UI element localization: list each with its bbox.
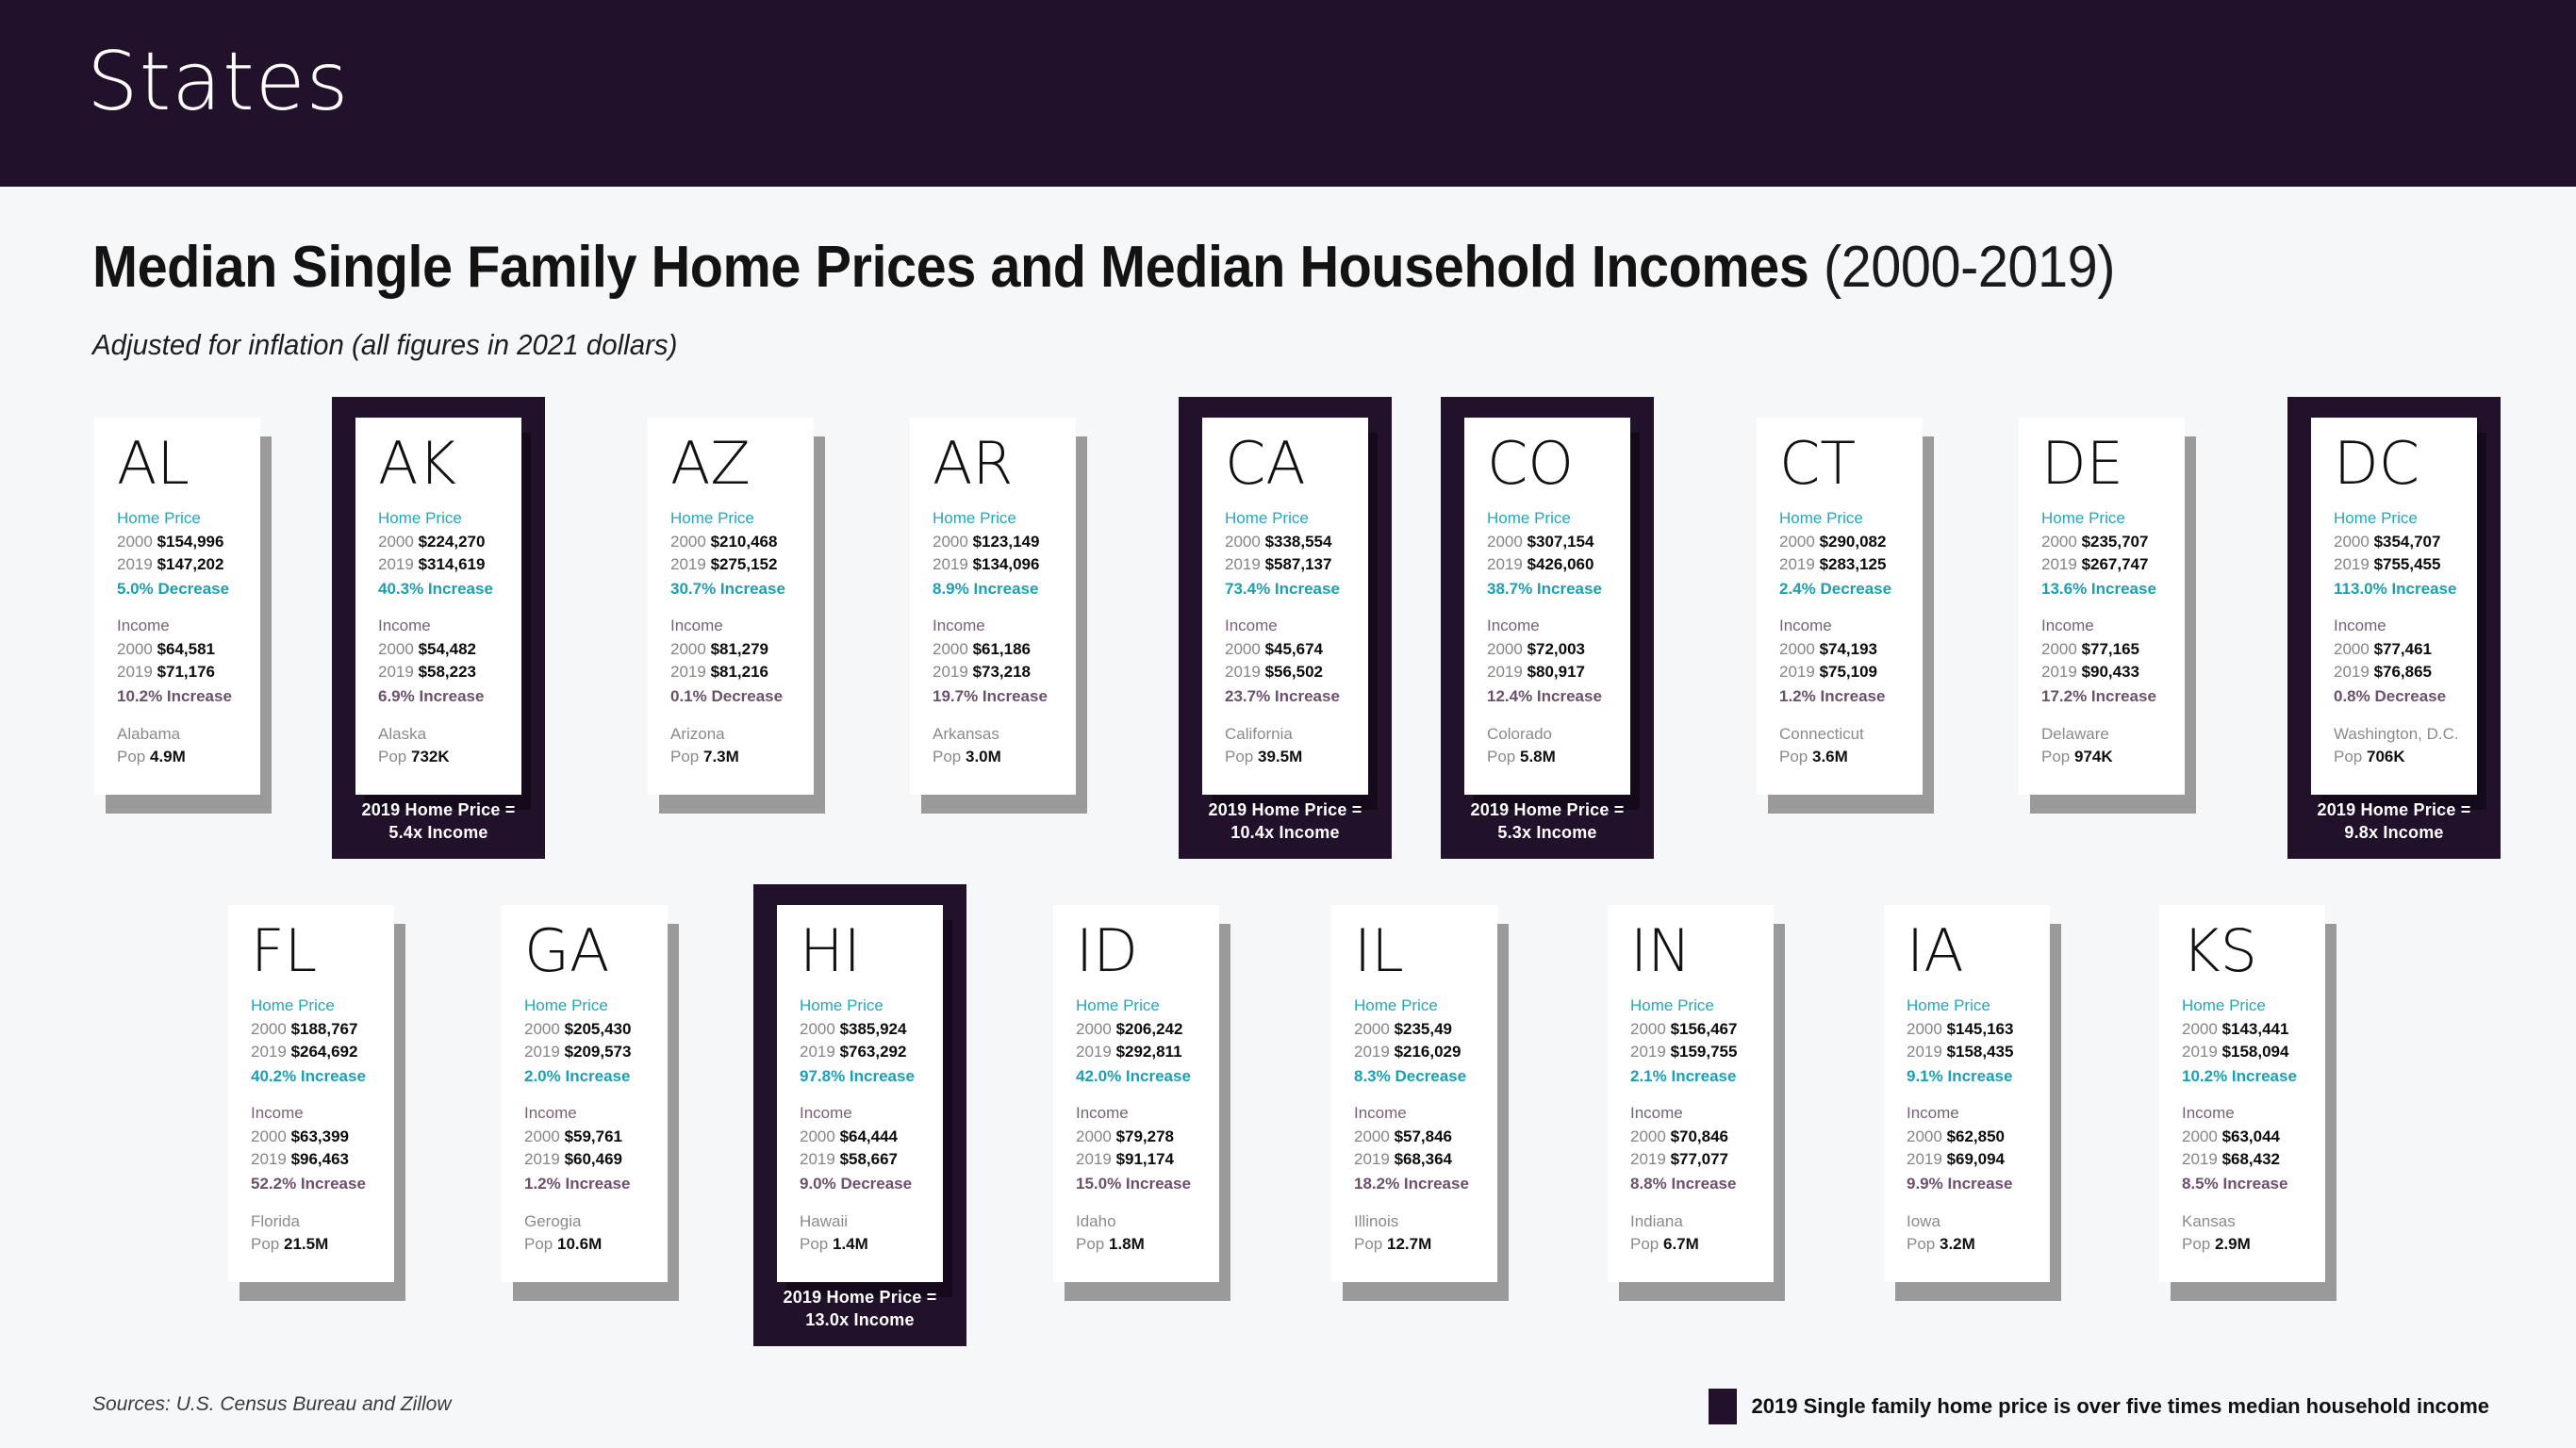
state-population: Pop 1.4M — [800, 1233, 943, 1257]
income-2019: 2019 $76,865 — [2334, 661, 2477, 684]
income-delta: 19.7% Increase — [933, 684, 1076, 709]
state-name: Washington, D.C. — [2334, 723, 2477, 747]
income-2019: 2019 $56,502 — [1225, 661, 1368, 684]
income-delta: 8.5% Increase — [2182, 1172, 2325, 1196]
home-price-2000: 2000 $156,467 — [1630, 1018, 1774, 1042]
income-2000: 2000 $81,279 — [670, 638, 814, 662]
home-price-delta: 30.7% Increase — [670, 577, 814, 601]
income-section: Income2000 $81,2792019 $81,2160.1% Decre… — [670, 614, 814, 708]
income-2000: 2000 $63,044 — [2182, 1126, 2325, 1149]
sources-note: Sources: U.S. Census Bureau and Zillow — [92, 1393, 452, 1416]
state-name: Iowa — [1907, 1210, 2050, 1234]
home-price-section: Home Price2000 $338,5542019 $587,13773.4… — [1225, 506, 1368, 601]
income-2019: 2019 $60,469 — [524, 1148, 668, 1172]
home-price-2019: 2019 $209,573 — [524, 1041, 668, 1064]
income-2019: 2019 $68,364 — [1354, 1148, 1497, 1172]
home-price-2019: 2019 $314,619 — [378, 553, 521, 577]
income-section: Income2000 $79,2782019 $91,17415.0% Incr… — [1076, 1101, 1219, 1195]
state-population: Pop 3.2M — [1907, 1233, 2050, 1257]
home-price-2000: 2000 $338,554 — [1225, 531, 1368, 554]
state-abbr: IL — [1354, 922, 1497, 980]
home-price-label: Home Price — [1487, 506, 1630, 531]
home-price-label: Home Price — [1779, 506, 1923, 531]
income-label: Income — [1630, 1101, 1774, 1126]
income-section: Income2000 $74,1932019 $75,1091.2% Incre… — [1779, 614, 1923, 708]
home-price-delta: 113.0% Increase — [2334, 577, 2477, 601]
income-section: Income2000 $72,0032019 $80,91712.4% Incr… — [1487, 614, 1630, 708]
card-panel: AZHome Price2000 $210,4682019 $275,15230… — [648, 418, 814, 795]
state-population: Pop 39.5M — [1225, 746, 1368, 769]
home-price-delta: 8.9% Increase — [933, 577, 1076, 601]
income-2019: 2019 $71,176 — [117, 661, 260, 684]
home-price-2019: 2019 $275,152 — [670, 553, 814, 577]
state-population: Pop 3.6M — [1779, 746, 1923, 769]
home-price-2019: 2019 $426,060 — [1487, 553, 1630, 577]
state-card-grid: ALHome Price2000 $154,9962019 $147,2025.… — [0, 0, 2576, 1448]
income-delta: 23.7% Increase — [1225, 684, 1368, 709]
state-population: Pop 7.3M — [670, 746, 814, 769]
income-section: Income2000 $77,4612019 $76,8650.8% Decre… — [2334, 614, 2477, 708]
home-price-delta: 38.7% Increase — [1487, 577, 1630, 601]
state-abbr: DE — [2041, 435, 2185, 493]
state-abbr: HI — [800, 922, 943, 980]
income-section: Income2000 $59,7612019 $60,4691.2% Incre… — [524, 1101, 668, 1195]
home-price-label: Home Price — [378, 506, 521, 531]
income-delta: 0.1% Decrease — [670, 684, 814, 709]
home-price-label: Home Price — [1076, 994, 1219, 1018]
home-price-label: Home Price — [2041, 506, 2185, 531]
home-price-delta: 8.3% Decrease — [1354, 1064, 1497, 1089]
state-name: Idaho — [1076, 1210, 1219, 1234]
state-abbr: IN — [1630, 922, 1774, 980]
home-price-2000: 2000 $188,767 — [251, 1018, 394, 1042]
income-2000: 2000 $64,581 — [117, 638, 260, 662]
home-price-label: Home Price — [2182, 994, 2325, 1018]
card-panel: DEHome Price2000 $235,7072019 $267,74713… — [2019, 418, 2185, 795]
income-delta: 9.0% Decrease — [800, 1172, 943, 1196]
income-2000: 2000 $63,399 — [251, 1126, 394, 1149]
home-price-section: Home Price2000 $224,2702019 $314,61940.3… — [378, 506, 521, 601]
card-panel: ILHome Price2000 $235,492019 $216,0298.3… — [1331, 905, 1497, 1282]
home-price-delta: 5.0% Decrease — [117, 577, 260, 601]
income-section: Income2000 $64,4442019 $58,6679.0% Decre… — [800, 1101, 943, 1195]
home-price-2019: 2019 $159,755 — [1630, 1041, 1774, 1064]
card-panel: INHome Price2000 $156,4672019 $159,7552.… — [1608, 905, 1774, 1282]
home-price-label: Home Price — [670, 506, 814, 531]
income-2019: 2019 $69,094 — [1907, 1148, 2050, 1172]
state-name: Indiana — [1630, 1210, 1774, 1234]
home-price-2019: 2019 $134,096 — [933, 553, 1076, 577]
home-price-section: Home Price2000 $156,4672019 $159,7552.1%… — [1630, 994, 1774, 1088]
income-delta: 15.0% Increase — [1076, 1172, 1219, 1196]
income-label: Income — [117, 614, 260, 638]
income-2000: 2000 $74,193 — [1779, 638, 1923, 662]
card-panel: HIHome Price2000 $385,9242019 $763,29297… — [777, 905, 943, 1282]
card-panel: GAHome Price2000 $205,4302019 $209,5732.… — [502, 905, 668, 1282]
state-name: Arkansas — [933, 723, 1076, 747]
home-price-section: Home Price2000 $123,1492019 $134,0968.9%… — [933, 506, 1076, 601]
income-2000: 2000 $45,674 — [1225, 638, 1368, 662]
income-delta: 1.2% Increase — [1779, 684, 1923, 709]
income-2000: 2000 $61,186 — [933, 638, 1076, 662]
state-name: California — [1225, 723, 1368, 747]
income-delta: 9.9% Increase — [1907, 1172, 2050, 1196]
income-2019: 2019 $77,077 — [1630, 1148, 1774, 1172]
state-population: Pop 1.8M — [1076, 1233, 1219, 1257]
income-section: Income2000 $62,8502019 $69,0949.9% Incre… — [1907, 1101, 2050, 1195]
income-label: Income — [1076, 1101, 1219, 1126]
income-label: Income — [251, 1101, 394, 1126]
home-price-2019: 2019 $147,202 — [117, 553, 260, 577]
home-price-2000: 2000 $123,149 — [933, 531, 1076, 554]
state-abbr: IA — [1907, 922, 2050, 980]
home-price-2019: 2019 $158,094 — [2182, 1041, 2325, 1064]
income-section: Income2000 $63,3992019 $96,46352.2% Incr… — [251, 1101, 394, 1195]
state-name: Kansas — [2182, 1210, 2325, 1234]
income-2000: 2000 $77,461 — [2334, 638, 2477, 662]
state-abbr: FL — [251, 922, 394, 980]
card-panel: COHome Price2000 $307,1542019 $426,06038… — [1464, 418, 1630, 795]
home-price-2019: 2019 $264,692 — [251, 1041, 394, 1064]
home-price-2019: 2019 $755,455 — [2334, 553, 2477, 577]
income-delta: 17.2% Increase — [2041, 684, 2185, 709]
income-section: Income2000 $64,5812019 $71,17610.2% Incr… — [117, 614, 260, 708]
home-price-section: Home Price2000 $143,4412019 $158,09410.2… — [2182, 994, 2325, 1088]
home-price-2000: 2000 $235,707 — [2041, 531, 2185, 554]
state-name: Arizona — [670, 723, 814, 747]
income-section: Income2000 $77,1652019 $90,43317.2% Incr… — [2041, 614, 2185, 708]
state-name: Hawaii — [800, 1210, 943, 1234]
home-price-2019: 2019 $158,435 — [1907, 1041, 2050, 1064]
home-price-delta: 73.4% Increase — [1225, 577, 1368, 601]
home-price-label: Home Price — [117, 506, 260, 531]
state-name: Alabama — [117, 723, 260, 747]
home-price-delta: 9.1% Increase — [1907, 1064, 2050, 1089]
price-to-income-ratio: 2019 Home Price =5.3x Income — [1441, 798, 1654, 845]
state-abbr: AL — [117, 435, 260, 493]
home-price-2000: 2000 $206,242 — [1076, 1018, 1219, 1042]
home-price-delta: 10.2% Increase — [2182, 1064, 2325, 1089]
state-abbr: AZ — [670, 435, 814, 493]
home-price-label: Home Price — [1354, 994, 1497, 1018]
income-2000: 2000 $72,003 — [1487, 638, 1630, 662]
home-price-label: Home Price — [933, 506, 1076, 531]
income-delta: 52.2% Increase — [251, 1172, 394, 1196]
state-abbr: CA — [1225, 435, 1368, 493]
card-panel: AKHome Price2000 $224,2702019 $314,61940… — [355, 418, 521, 795]
state-name: Colorado — [1487, 723, 1630, 747]
income-delta: 8.8% Increase — [1630, 1172, 1774, 1196]
state-population: Pop 2.9M — [2182, 1233, 2325, 1257]
income-2019: 2019 $68,432 — [2182, 1148, 2325, 1172]
state-abbr: GA — [524, 922, 668, 980]
home-price-2019: 2019 $267,747 — [2041, 553, 2185, 577]
price-to-income-ratio: 2019 Home Price =10.4x Income — [1179, 798, 1392, 845]
home-price-2000: 2000 $354,707 — [2334, 531, 2477, 554]
card-panel: IDHome Price2000 $206,2422019 $292,81142… — [1053, 905, 1219, 1282]
income-delta: 1.2% Increase — [524, 1172, 668, 1196]
state-population: Pop 706K — [2334, 746, 2477, 769]
state-abbr: ID — [1076, 922, 1219, 980]
state-population: Pop 10.6M — [524, 1233, 668, 1257]
state-abbr: AK — [378, 435, 521, 493]
card-panel: CTHome Price2000 $290,0822019 $283,1252.… — [1757, 418, 1923, 795]
home-price-delta: 2.0% Increase — [524, 1064, 668, 1089]
income-2019: 2019 $96,463 — [251, 1148, 394, 1172]
home-price-section: Home Price2000 $385,9242019 $763,29297.8… — [800, 994, 943, 1088]
home-price-2000: 2000 $385,924 — [800, 1018, 943, 1042]
income-delta: 6.9% Increase — [378, 684, 521, 709]
income-label: Income — [1779, 614, 1923, 638]
state-population: Pop 3.0M — [933, 746, 1076, 769]
home-price-label: Home Price — [1630, 994, 1774, 1018]
price-to-income-ratio: 2019 Home Price =13.0x Income — [753, 1286, 966, 1332]
income-2019: 2019 $73,218 — [933, 661, 1076, 684]
home-price-2019: 2019 $283,125 — [1779, 553, 1923, 577]
home-price-2000: 2000 $143,441 — [2182, 1018, 2325, 1042]
home-price-label: Home Price — [2334, 506, 2477, 531]
income-2000: 2000 $79,278 — [1076, 1126, 1219, 1149]
legend: 2019 Single family home price is over fi… — [1709, 1389, 2489, 1424]
home-price-delta: 40.2% Increase — [251, 1064, 394, 1089]
legend-swatch-highlight — [1709, 1389, 1737, 1424]
income-2000: 2000 $54,482 — [378, 638, 521, 662]
income-2000: 2000 $77,165 — [2041, 638, 2185, 662]
income-2019: 2019 $58,667 — [800, 1148, 943, 1172]
income-label: Income — [800, 1101, 943, 1126]
state-abbr: AR — [933, 435, 1076, 493]
home-price-2000: 2000 $210,468 — [670, 531, 814, 554]
card-panel: CAHome Price2000 $338,5542019 $587,13773… — [1202, 418, 1368, 795]
income-label: Income — [1907, 1101, 2050, 1126]
state-population: Pop 12.7M — [1354, 1233, 1497, 1257]
state-population: Pop 21.5M — [251, 1233, 394, 1257]
state-name: Delaware — [2041, 723, 2185, 747]
income-delta: 10.2% Increase — [117, 684, 260, 709]
income-section: Income2000 $63,0442019 $68,4328.5% Incre… — [2182, 1101, 2325, 1195]
state-population: Pop 5.8M — [1487, 746, 1630, 769]
state-population: Pop 6.7M — [1630, 1233, 1774, 1257]
state-population: Pop 974K — [2041, 746, 2185, 769]
income-delta: 18.2% Increase — [1354, 1172, 1497, 1196]
home-price-delta: 42.0% Increase — [1076, 1064, 1219, 1089]
income-label: Income — [2334, 614, 2477, 638]
income-2000: 2000 $59,761 — [524, 1126, 668, 1149]
income-section: Income2000 $45,6742019 $56,50223.7% Incr… — [1225, 614, 1368, 708]
card-panel: IAHome Price2000 $145,1632019 $158,4359.… — [1884, 905, 2050, 1282]
home-price-section: Home Price2000 $290,0822019 $283,1252.4%… — [1779, 506, 1923, 601]
home-price-2000: 2000 $154,996 — [117, 531, 260, 554]
home-price-2019: 2019 $587,137 — [1225, 553, 1368, 577]
income-delta: 12.4% Increase — [1487, 684, 1630, 709]
state-name: Gerogia — [524, 1210, 668, 1234]
income-2000: 2000 $62,850 — [1907, 1126, 2050, 1149]
home-price-label: Home Price — [524, 994, 668, 1018]
income-section: Income2000 $61,1862019 $73,21819.7% Incr… — [933, 614, 1076, 708]
income-label: Income — [1487, 614, 1630, 638]
income-2019: 2019 $80,917 — [1487, 661, 1630, 684]
home-price-section: Home Price2000 $307,1542019 $426,06038.7… — [1487, 506, 1630, 601]
home-price-2000: 2000 $235,49 — [1354, 1018, 1497, 1042]
home-price-delta: 97.8% Increase — [800, 1064, 943, 1089]
home-price-2000: 2000 $224,270 — [378, 531, 521, 554]
card-panel: ALHome Price2000 $154,9962019 $147,2025.… — [94, 418, 260, 795]
state-name: Illinois — [1354, 1210, 1497, 1234]
legend-label: 2019 Single family home price is over fi… — [1752, 1394, 2489, 1419]
home-price-delta: 2.4% Decrease — [1779, 577, 1923, 601]
home-price-2000: 2000 $145,163 — [1907, 1018, 2050, 1042]
income-section: Income2000 $57,8462019 $68,36418.2% Incr… — [1354, 1101, 1497, 1195]
state-name: Alaska — [378, 723, 521, 747]
income-2019: 2019 $81,216 — [670, 661, 814, 684]
card-panel: FLHome Price2000 $188,7672019 $264,69240… — [228, 905, 394, 1282]
state-population: Pop 4.9M — [117, 746, 260, 769]
home-price-section: Home Price2000 $235,7072019 $267,74713.6… — [2041, 506, 2185, 601]
income-label: Income — [1225, 614, 1368, 638]
income-section: Income2000 $54,4822019 $58,2236.9% Incre… — [378, 614, 521, 708]
home-price-label: Home Price — [251, 994, 394, 1018]
home-price-label: Home Price — [1225, 506, 1368, 531]
home-price-delta: 2.1% Increase — [1630, 1064, 1774, 1089]
home-price-section: Home Price2000 $235,492019 $216,0298.3% … — [1354, 994, 1497, 1088]
income-2000: 2000 $70,846 — [1630, 1126, 1774, 1149]
home-price-label: Home Price — [1907, 994, 2050, 1018]
income-2019: 2019 $75,109 — [1779, 661, 1923, 684]
card-panel: DCHome Price2000 $354,7072019 $755,45511… — [2311, 418, 2477, 795]
home-price-label: Home Price — [800, 994, 943, 1018]
income-label: Income — [2041, 614, 2185, 638]
state-name: Connecticut — [1779, 723, 1923, 747]
state-population: Pop 732K — [378, 746, 521, 769]
income-label: Income — [1354, 1101, 1497, 1126]
state-name: Florida — [251, 1210, 394, 1234]
income-label: Income — [2182, 1101, 2325, 1126]
state-abbr: KS — [2182, 922, 2325, 980]
home-price-section: Home Price2000 $145,1632019 $158,4359.1%… — [1907, 994, 2050, 1088]
home-price-section: Home Price2000 $354,7072019 $755,455113.… — [2334, 506, 2477, 601]
home-price-delta: 13.6% Increase — [2041, 577, 2185, 601]
home-price-section: Home Price2000 $210,4682019 $275,15230.7… — [670, 506, 814, 601]
income-2019: 2019 $91,174 — [1076, 1148, 1219, 1172]
income-2019: 2019 $90,433 — [2041, 661, 2185, 684]
home-price-2000: 2000 $307,154 — [1487, 531, 1630, 554]
home-price-section: Home Price2000 $154,9962019 $147,2025.0%… — [117, 506, 260, 601]
card-panel: ARHome Price2000 $123,1492019 $134,0968.… — [910, 418, 1076, 795]
home-price-2019: 2019 $763,292 — [800, 1041, 943, 1064]
income-2019: 2019 $58,223 — [378, 661, 521, 684]
price-to-income-ratio: 2019 Home Price =9.8x Income — [2287, 798, 2501, 845]
home-price-2000: 2000 $290,082 — [1779, 531, 1923, 554]
income-label: Income — [670, 614, 814, 638]
home-price-section: Home Price2000 $188,7672019 $264,69240.2… — [251, 994, 394, 1088]
home-price-2019: 2019 $292,811 — [1076, 1041, 1219, 1064]
card-panel: KSHome Price2000 $143,4412019 $158,09410… — [2159, 905, 2325, 1282]
home-price-2000: 2000 $205,430 — [524, 1018, 668, 1042]
income-2000: 2000 $57,846 — [1354, 1126, 1497, 1149]
income-label: Income — [378, 614, 521, 638]
income-section: Income2000 $70,8462019 $77,0778.8% Incre… — [1630, 1101, 1774, 1195]
state-abbr: CT — [1779, 435, 1923, 493]
home-price-delta: 40.3% Increase — [378, 577, 521, 601]
home-price-section: Home Price2000 $205,4302019 $209,5732.0%… — [524, 994, 668, 1088]
home-price-2019: 2019 $216,029 — [1354, 1041, 1497, 1064]
income-label: Income — [933, 614, 1076, 638]
state-abbr: CO — [1487, 435, 1630, 493]
state-abbr: DC — [2334, 435, 2477, 493]
home-price-section: Home Price2000 $206,2422019 $292,81142.0… — [1076, 994, 1219, 1088]
income-delta: 0.8% Decrease — [2334, 684, 2477, 709]
income-label: Income — [524, 1101, 668, 1126]
income-2000: 2000 $64,444 — [800, 1126, 943, 1149]
price-to-income-ratio: 2019 Home Price =5.4x Income — [332, 798, 545, 845]
